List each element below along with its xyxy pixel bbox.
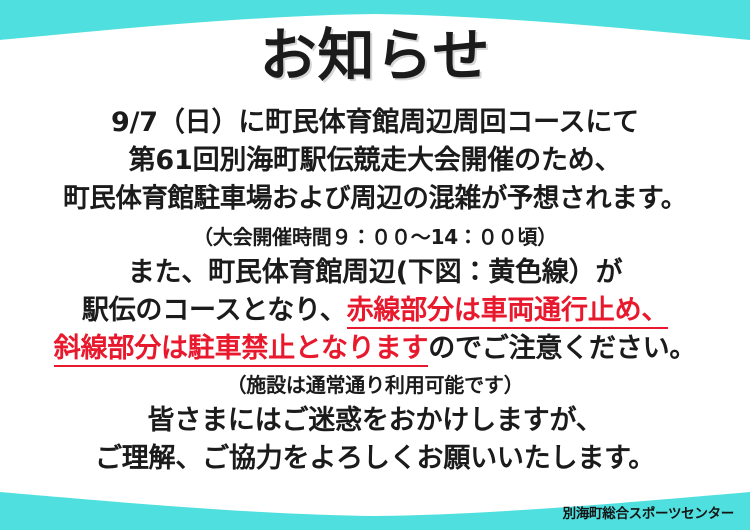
- notice-line-yellow-route: また、町民体育館周辺(下図：黄色線）が: [0, 254, 750, 292]
- notice-line-apology: 皆さまにはご迷惑をおかけしますが、: [0, 402, 750, 440]
- notice-poster: お知らせ 9/7（日）に町民体育館周辺周回コースにて 第61回別海町駅伝競走大会…: [0, 0, 750, 530]
- issuer-signature: 別海町総合スポーツセンター: [563, 502, 734, 522]
- notice-line-congestion-warning: 町民体育館駐車場および周辺の混雑が予想されます。: [0, 180, 750, 218]
- notice-line-event-name: 第61回別海町駅伝競走大会開催のため、: [0, 142, 750, 180]
- notice-line-date-course: 9/7（日）に町民体育館周辺周回コースにて: [0, 104, 750, 142]
- page-title: お知らせ: [0, 22, 750, 90]
- notice-line-request: ご理解、ご協力をよろしくお願いいたします。: [0, 440, 750, 478]
- notice-line-facility-available: （施設は通常通り利用可能です）: [0, 368, 750, 402]
- notice-line-event-hours: （大会開催時間９：００〜14：００頃）: [0, 220, 750, 254]
- notice-line-road-closure: 駅伝のコースとなり、赤線部分は車両通行止め、: [0, 292, 750, 330]
- no-parking-alert: 斜線部分は駐車禁止となります: [54, 333, 428, 367]
- no-parking-suffix: のでご注意ください。: [428, 333, 696, 364]
- road-closure-prefix: 駅伝のコースとなり、: [82, 295, 347, 326]
- notice-body: 9/7（日）に町民体育館周辺周回コースにて 第61回別海町駅伝競走大会開催のため…: [0, 104, 750, 478]
- notice-line-no-parking: 斜線部分は駐車禁止となりますのでご注意ください。: [0, 330, 750, 368]
- road-closure-alert: 赤線部分は車両通行止め、: [347, 295, 669, 329]
